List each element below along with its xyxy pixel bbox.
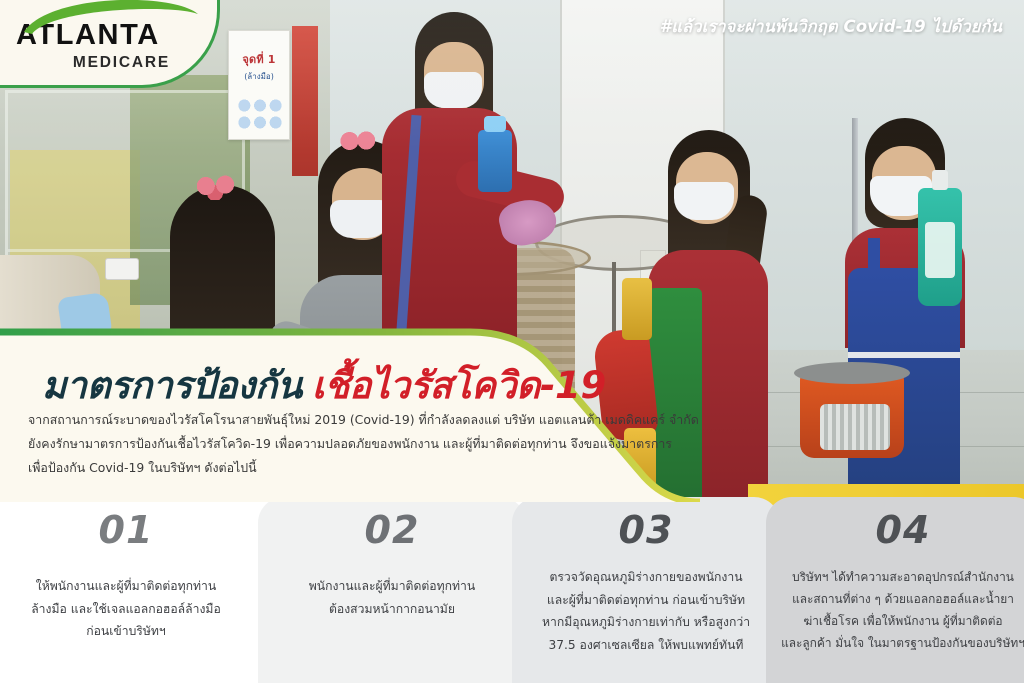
poster-root: จุดที่ 1 (ล้างมือ) xyxy=(0,0,1024,683)
measure-card-number: 01 xyxy=(6,511,246,549)
intro-paragraph-line: เพื่อป้องกัน Covid-19 ในบริษัทฯ ดังต่อไป… xyxy=(28,456,628,480)
face-mask-icon xyxy=(424,72,482,108)
measures-card-list: 01 ให้พนักงานและผู้ที่มาติดต่อทุกท่าน ล้… xyxy=(0,497,1024,683)
measure-card-line: ฆ่าเชื้อโรค เพื่อให้พนักงาน ผู้ที่มาติดต… xyxy=(780,610,1024,632)
intro-paragraph-line: ยังคงรักษามาตรการป้องกันเชื้อไวรัสโควิด-… xyxy=(28,432,628,456)
measure-card-line: ก่อนเข้าบริษัทฯ xyxy=(6,620,246,643)
campaign-hashtag: #แล้วเราจะผ่านพ้นวิกฤต Covid-19 ไปด้วยกั… xyxy=(660,14,1002,40)
measure-card-number: 03 xyxy=(526,511,766,549)
wall-sign-illustration xyxy=(237,97,283,131)
measure-card-line: ล้างมือ และใช้เจลแอลกอฮอล์ล้างมือ xyxy=(6,598,246,621)
measure-card-number: 02 xyxy=(272,511,512,549)
thermometer-gun-icon xyxy=(105,258,139,280)
page-title-primary: มาตรการป้องกัน xyxy=(42,364,302,407)
spray-bottle-icon xyxy=(478,130,512,192)
photo-red-banner xyxy=(292,26,318,176)
wall-sign-subtitle: (ล้างมือ) xyxy=(229,70,289,83)
face-mask-icon xyxy=(330,200,390,238)
brand-logo: ATLANTA MEDICARE xyxy=(16,8,206,78)
page-title-accent: เชื้อไวรัสโควิด-19 xyxy=(312,364,606,407)
measure-card-line: หากมีอุณหภูมิร่างกายเท่ากับ หรือสูงกว่า xyxy=(526,611,766,634)
measure-card-line: 37.5 องศาเซลเซียล ให้พบแพทย์ทันที xyxy=(526,634,766,657)
measure-card-text: ให้พนักงานและผู้ที่มาติดต่อทุกท่าน ล้างม… xyxy=(6,575,246,643)
measure-card-text: บริษัทฯ ได้ทำความสะอาดอุปกรณ์สำนักงาน แล… xyxy=(780,566,1024,655)
logo-arc-icon xyxy=(22,0,200,34)
measure-card-line: ต้องสวมหน้ากากอนามัย xyxy=(272,598,512,621)
measure-card-line: พนักงานและผู้ที่มาติดต่อทุกท่าน xyxy=(272,575,512,598)
measure-card-line: บริษัทฯ ได้ทำความสะอาดอุปกรณ์สำนักงาน xyxy=(780,566,1024,588)
wall-sign-title: จุดที่ 1 xyxy=(229,53,289,67)
measure-card-text: พนักงานและผู้ที่มาติดต่อทุกท่าน ต้องสวมห… xyxy=(272,575,512,620)
measure-card-line: ตรวจวัดอุณหภูมิร่างกายของพนักงาน xyxy=(526,566,766,589)
measure-card-line: และสถานที่ต่าง ๆ ด้วยแอลกอฮอล์และน้ำยา xyxy=(780,588,1024,610)
disinfectant-bottle-icon xyxy=(918,188,962,306)
photo-hair-bow-2 xyxy=(336,128,378,154)
brand-logo-panel[interactable]: ATLANTA MEDICARE xyxy=(0,0,220,88)
measure-card-number: 04 xyxy=(780,511,1024,549)
measure-card[interactable]: 04 บริษัทฯ ได้ทำความสะอาดอุปกรณ์สำนักงาน… xyxy=(766,497,1024,683)
measure-card-line: และผู้ที่มาติดต่อทุกท่าน ก่อนเข้าบริษัท xyxy=(526,589,766,612)
measure-card[interactable]: 01 ให้พนักงานและผู้ที่มาติดต่อทุกท่าน ล้… xyxy=(0,497,260,683)
page-title: มาตรการป้องกันเชื้อไวรัสโควิด-19 xyxy=(42,356,606,415)
face-mask-icon xyxy=(674,182,734,220)
intro-paragraph: จากสถานการณ์ระบาดของไวรัสโคโรนาสายพันธุ์… xyxy=(28,408,628,479)
measure-card[interactable]: 02 พนักงานและผู้ที่มาติดต่อทุกท่าน ต้องส… xyxy=(258,497,526,683)
measure-card-line: ให้พนักงานและผู้ที่มาติดต่อทุกท่าน xyxy=(6,575,246,598)
intro-paragraph-line: จากสถานการณ์ระบาดของไวรัสโคโรนาสายพันธุ์… xyxy=(28,408,628,432)
measure-card-line: และลูกค้า มั่นใจ ในมาตรฐานป้องกันของบริษ… xyxy=(780,632,1024,654)
measure-card-text: ตรวจวัดอุณหภูมิร่างกายของพนักงาน และผู้ท… xyxy=(526,566,766,657)
photo-wall-sign: จุดที่ 1 (ล้างมือ) xyxy=(228,30,290,140)
photo-hair-bow-1 xyxy=(192,172,238,200)
measure-card[interactable]: 03 ตรวจวัดอุณหภูมิร่างกายของพนักงาน และผ… xyxy=(512,497,780,683)
brand-sub: MEDICARE xyxy=(16,54,170,72)
